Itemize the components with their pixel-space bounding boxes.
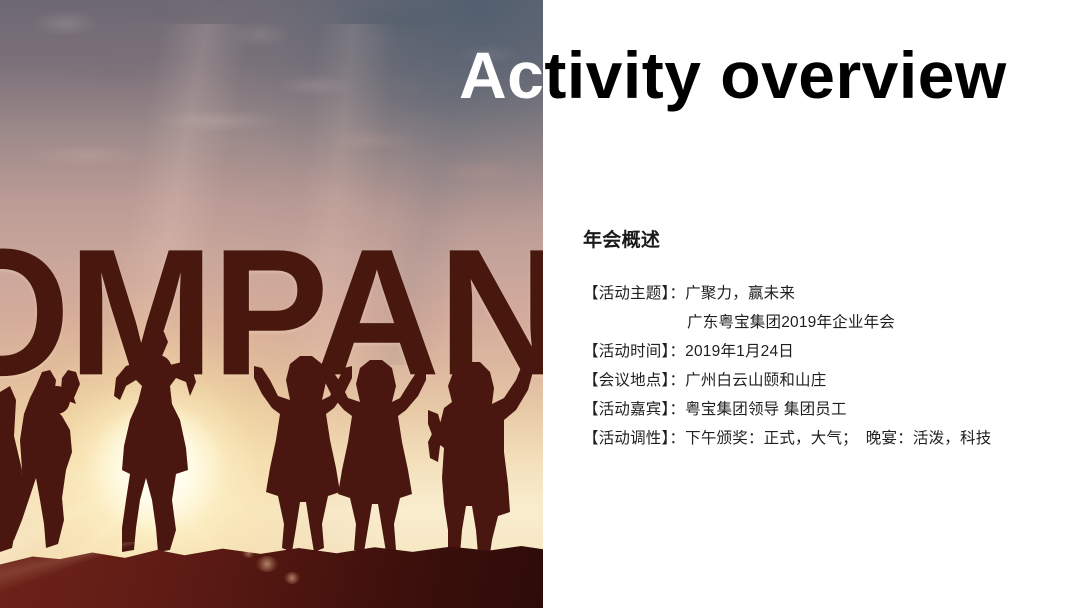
detail-separator: ： — [669, 343, 685, 360]
detail-separator: ： — [669, 401, 685, 418]
content-panel: 年会概述 【活动主题】：广聚力，赢未来 广东粤宝集团2019年企业年会 【活动时… — [543, 0, 1080, 608]
company-letters: OMPANY — [0, 244, 543, 376]
detail-separator: ： — [669, 285, 685, 302]
detail-value: 广聚力，赢未来 — [685, 285, 795, 302]
detail-value: 粤宝集团领导 集团员工 — [685, 401, 847, 418]
detail-list: 【活动主题】：广聚力，赢未来 广东粤宝集团2019年企业年会 【活动时间】：20… — [583, 279, 1073, 453]
detail-line-activity-theme: 【活动主题】：广聚力，赢未来 — [583, 279, 1073, 308]
slide: OMPANY — [0, 0, 1080, 608]
detail-label: 【活动调性】 — [583, 430, 669, 447]
section-heading: 年会概述 — [583, 229, 660, 253]
detail-separator: ： — [669, 430, 685, 447]
detail-label: 【活动时间】 — [583, 343, 669, 360]
detail-line-meeting-location: 【会议地点】：广州白云山颐和山庄 — [583, 366, 1073, 395]
ground-light-rays — [0, 542, 543, 608]
lens-flare-dot — [256, 556, 278, 572]
detail-separator: ： — [669, 372, 685, 389]
lens-flare-dot — [284, 572, 300, 584]
hero-photo: OMPANY — [0, 0, 543, 608]
detail-label: 【会议地点】 — [583, 372, 669, 389]
detail-value: 广东粤宝集团2019年企业年会 — [687, 314, 895, 331]
detail-line-activity-time: 【活动时间】：2019年1月24日 — [583, 337, 1073, 366]
detail-line-activity-guests: 【活动嘉宾】：粤宝集团领导 集团员工 — [583, 395, 1073, 424]
company-letters-text: OMPANY — [0, 244, 543, 382]
detail-value: 广州白云山颐和山庄 — [685, 372, 826, 389]
lens-flare-dot — [242, 548, 255, 558]
detail-label: 【活动主题】 — [583, 285, 669, 302]
detail-value: 下午颁奖：正式，大气； 晚宴：活泼，科技 — [685, 430, 991, 447]
sun-core — [92, 408, 222, 532]
detail-line-activity-theme-cont: 广东粤宝集团2019年企业年会 — [583, 308, 1073, 337]
detail-line-activity-tone: 【活动调性】：下午颁奖：正式，大气； 晚宴：活泼，科技 — [583, 424, 1073, 453]
detail-label: 【活动嘉宾】 — [583, 401, 669, 418]
detail-value: 2019年1月24日 — [685, 343, 794, 360]
